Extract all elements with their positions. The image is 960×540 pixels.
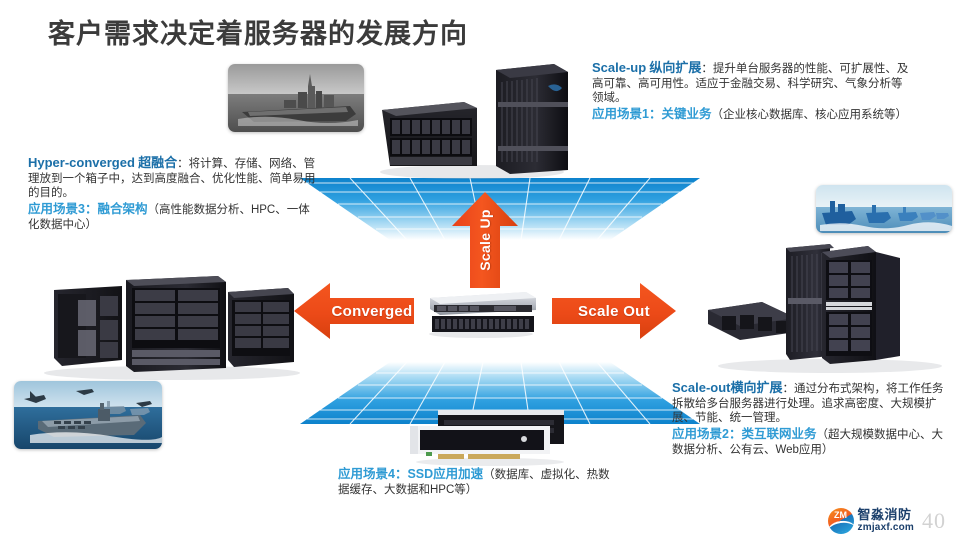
brand-logo-icon: ZM xyxy=(828,508,854,534)
hyper-converged-heading-cn: 超融合 xyxy=(138,155,177,170)
tower-and-chassis-servers xyxy=(372,58,578,180)
brand-logo-text: ZM xyxy=(828,510,854,520)
watermark-url: zmjaxf.com xyxy=(858,523,914,534)
converged-arrow-label: Converged xyxy=(294,283,432,339)
converged-arrow[interactable]: Converged xyxy=(294,283,414,339)
pcie-ssd-cards xyxy=(404,408,576,466)
hyper-converged-scenario-label: 应用场景3：融合架构 xyxy=(28,202,147,216)
scale-out-text-block: Scale-out横向扩展：通过分布式架构，将工作任务拆散给多台服务器进行处理。… xyxy=(672,380,954,458)
aircraft-carrier-photo xyxy=(14,381,162,449)
scale-out-heading-cn: 横向扩展 xyxy=(731,380,783,395)
scale-up-scenario-label: 应用场景1：关键业务 xyxy=(592,107,711,121)
page-number: 40 xyxy=(922,508,946,534)
ssd-scenario-label: 应用场景4：SSD应用加速 xyxy=(338,467,483,481)
rack-1u-server xyxy=(424,288,538,338)
brand-logo-wave xyxy=(828,519,854,534)
scale-out-heading-en: Scale-out xyxy=(672,380,731,395)
hyper-converged-heading-en: Hyper-converged xyxy=(28,155,135,170)
watermark-brand: 智淼消防 xyxy=(858,509,914,523)
battleship-photo xyxy=(228,64,364,132)
scale-up-arrow[interactable]: Scale Up xyxy=(452,192,518,288)
scale-up-scenario-detail: （企业核心数据库、核心应用系统等） xyxy=(711,109,907,121)
blade-chassis-servers xyxy=(22,272,310,382)
scale-out-arrow[interactable]: Scale Out xyxy=(552,283,676,339)
slide-canvas: 客户需求决定着服务器的发展方向 xyxy=(0,0,960,540)
naval-fleet-photo xyxy=(816,185,952,233)
scale-up-heading-en: Scale-up xyxy=(592,60,646,75)
scale-up-heading-cn: 纵向扩展 xyxy=(649,60,701,75)
rack-cabinet-servers xyxy=(700,236,950,376)
ssd-text-block: 应用场景4：SSD应用加速（数据库、虚拟化、热数据缓存、大数据和HPC等） xyxy=(338,466,610,497)
scale-up-text-block: Scale-up 纵向扩展：提升单台服务器的性能、可扩展性、及高可靠、高可用性。… xyxy=(592,60,910,123)
scale-up-arrow-label: Scale Up xyxy=(437,207,533,273)
page-title: 客户需求决定着服务器的发展方向 xyxy=(48,12,468,51)
scale-out-arrow-label: Scale Out xyxy=(552,283,696,339)
watermark-text: 智淼消防 zmjaxf.com xyxy=(858,509,914,533)
watermark: ZM 智淼消防 zmjaxf.com xyxy=(828,508,914,534)
hyper-converged-text-block: Hyper-converged 超融合：将计算、存储、网络、管理放到一个箱子中，… xyxy=(28,155,320,233)
scale-out-scenario-label: 应用场景2：类互联网业务 xyxy=(672,427,816,441)
